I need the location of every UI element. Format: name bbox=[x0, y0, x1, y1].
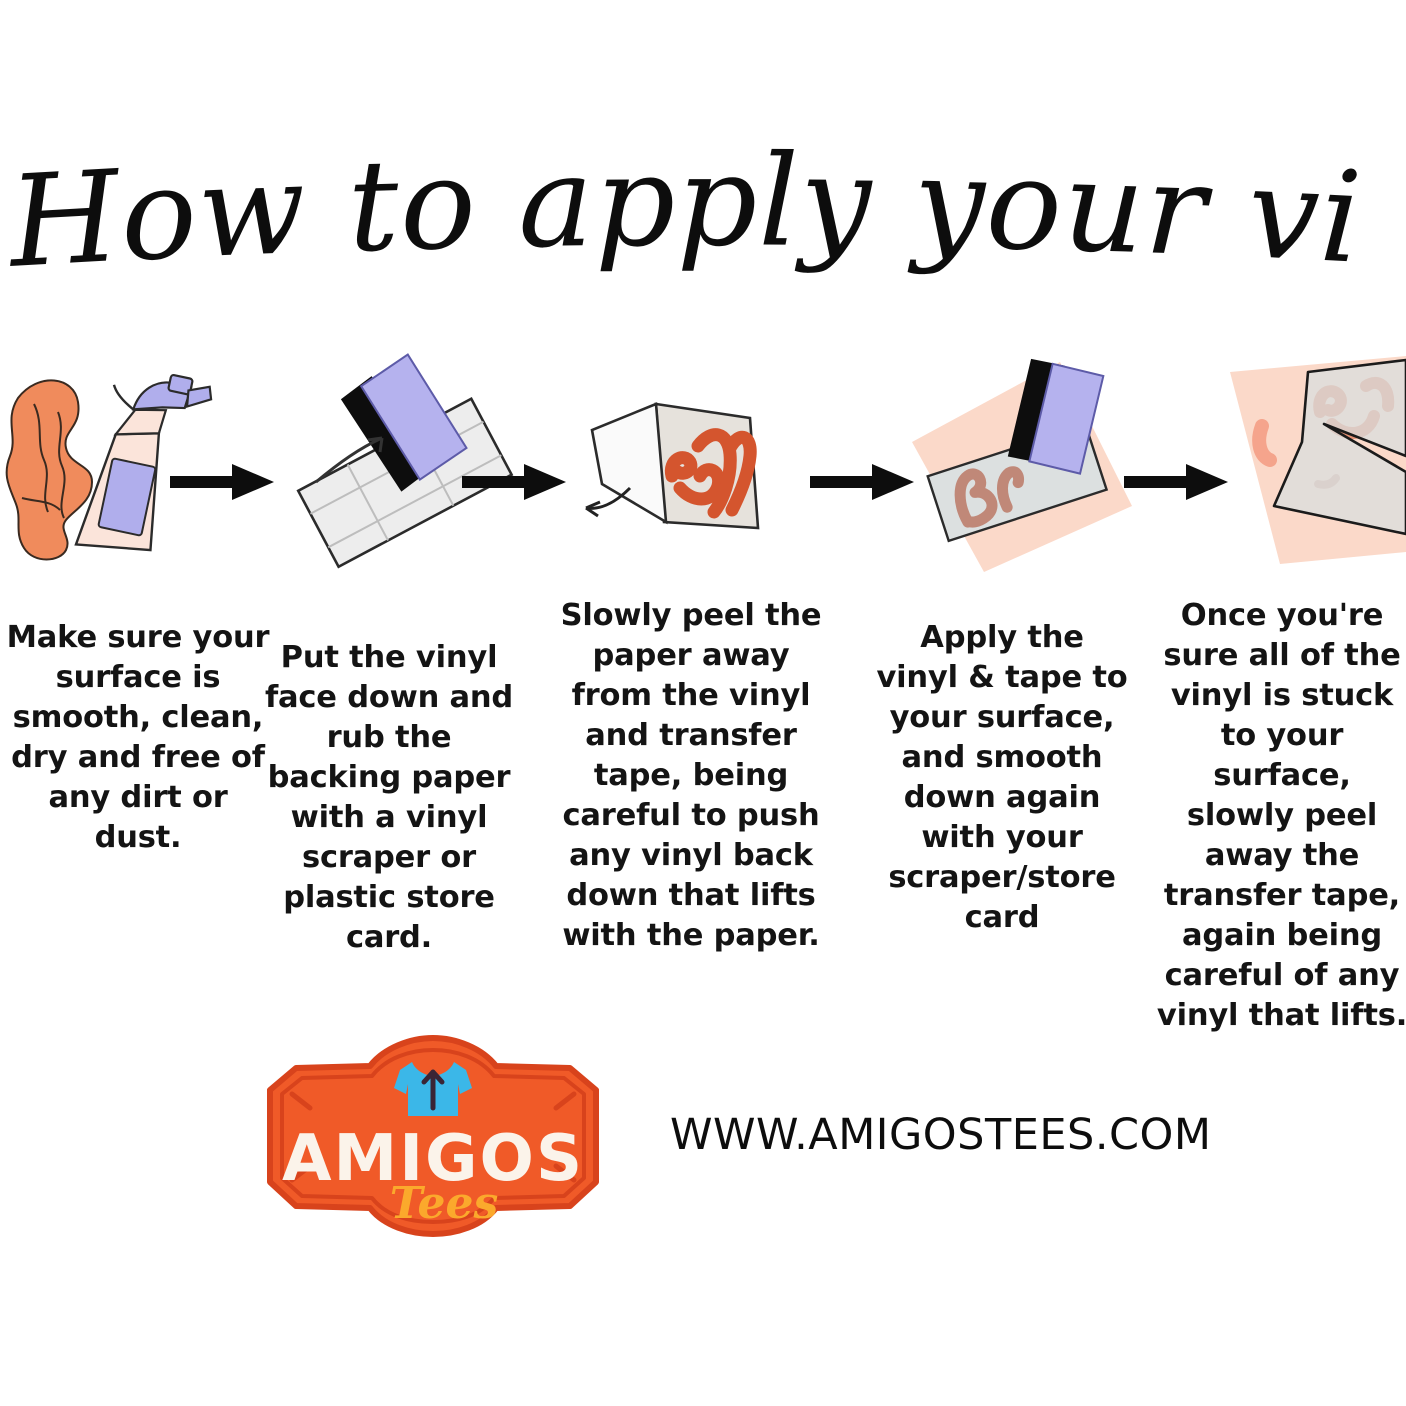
step-3-caption: Slowly peel the paper away from the viny… bbox=[550, 596, 832, 956]
page-title: How to apply your vinyl decal bbox=[0, 138, 1406, 298]
logo-brand-sub: Tees bbox=[390, 1178, 498, 1229]
step-2-caption: Put the vinyl face down and rub the back… bbox=[256, 638, 522, 958]
amigos-tees-logo[interactable]: AMIGOS Tees bbox=[252, 1032, 614, 1242]
step-caption-row: Make sure your surface is smooth, clean,… bbox=[0, 596, 1406, 1006]
website-url[interactable]: WWW.AMIGOSTEES.COM bbox=[670, 1110, 1170, 1160]
step-illustration-row bbox=[0, 352, 1406, 592]
step-1-caption: Make sure your surface is smooth, clean,… bbox=[4, 618, 272, 858]
next-step-arrow-1 bbox=[170, 460, 278, 504]
footer: AMIGOS Tees WWW.AMIGOSTEES.COM bbox=[0, 1020, 1406, 1250]
vinyl-decal-sheet-icon bbox=[656, 404, 758, 528]
step-5-caption: Once you're sure all of the vinyl is stu… bbox=[1156, 596, 1406, 1036]
step-4-caption: Apply the vinyl & tape to your surface, … bbox=[876, 618, 1128, 938]
step-3-illustration bbox=[572, 352, 812, 587]
step-4-illustration bbox=[900, 352, 1140, 587]
infographic-page: How to apply your vinyl decal bbox=[0, 0, 1406, 1406]
step-5-illustration bbox=[1216, 352, 1406, 587]
peel-direction-arrow-icon bbox=[586, 488, 630, 516]
next-step-arrow-2 bbox=[462, 460, 570, 504]
peeled-backing-paper-icon bbox=[592, 404, 666, 522]
page-title-text: How to apply your vinyl decal bbox=[0, 138, 1366, 296]
